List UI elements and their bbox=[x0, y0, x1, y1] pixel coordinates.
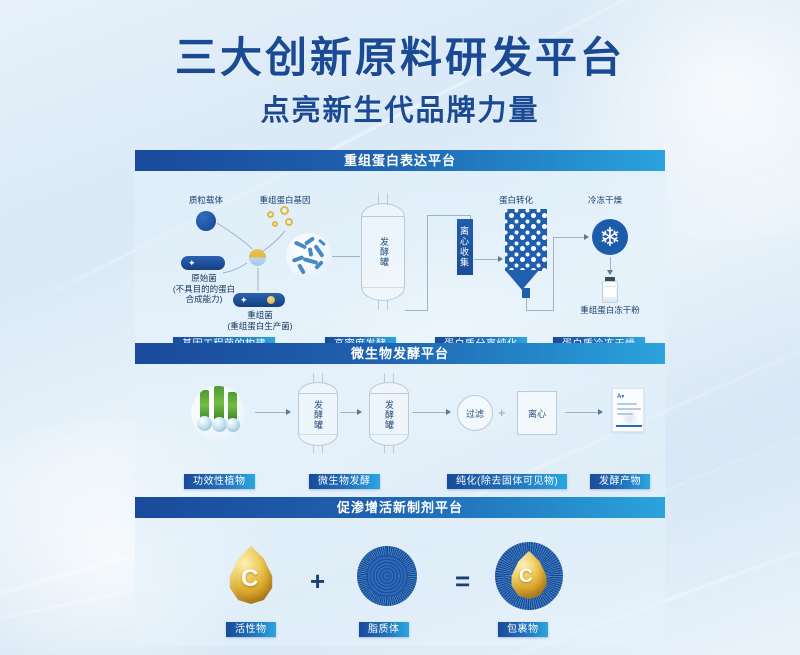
title-main: 三大创新原料研发平台 bbox=[0, 34, 800, 81]
flow-line bbox=[553, 237, 554, 311]
bacteria-cluster-icon bbox=[286, 233, 332, 279]
label-freeze-dried-powder: 重组蛋白冻干粉 bbox=[563, 305, 657, 316]
arrow-head-icon bbox=[446, 409, 451, 415]
flow-line bbox=[340, 412, 358, 413]
flow-line bbox=[332, 256, 360, 257]
tag-p2-3[interactable]: 发酵产物 bbox=[590, 474, 650, 489]
arrow-head-icon bbox=[584, 234, 589, 240]
page-title: 三大创新原料研发平台 点亮新生代品牌力量 bbox=[0, 34, 800, 129]
flow-line bbox=[474, 259, 499, 260]
recombinant-bacteria-icon: ✦ bbox=[233, 293, 285, 307]
panel-header-3: 促渗增活新制剂平台 bbox=[135, 497, 665, 518]
flow-line bbox=[565, 412, 599, 413]
snowflake-icon: ❄ bbox=[592, 219, 628, 255]
flow-line bbox=[255, 412, 287, 413]
tag-p2-2[interactable]: 纯化(除去固体可见物) bbox=[447, 474, 567, 489]
arrow-head-icon bbox=[357, 409, 362, 415]
tag-p2-1[interactable]: 微生物发酵 bbox=[309, 474, 380, 489]
panel-recombinant-protein: 重组蛋白表达平台 质粒载体 重组蛋白基因 ✦ 原始菌 (不具目的的蛋白 bbox=[135, 150, 665, 361]
product-pouch-icon: A▾ bbox=[612, 388, 644, 432]
flow-line bbox=[427, 215, 428, 311]
filter-node: 过滤 bbox=[457, 395, 493, 431]
arrow-head-icon bbox=[607, 270, 613, 275]
plus-operator: + bbox=[310, 566, 325, 597]
arrow-head-icon bbox=[286, 409, 291, 415]
liposome-core bbox=[366, 555, 408, 597]
equals-operator: = bbox=[455, 566, 470, 597]
encapsulated-letter: C bbox=[519, 566, 533, 588]
merge-node-icon bbox=[249, 249, 266, 266]
flow-line bbox=[412, 412, 447, 413]
tag-p3-0[interactable]: 活性物 bbox=[226, 622, 276, 637]
tag-p3-1[interactable]: 脂质体 bbox=[359, 622, 409, 637]
plus-sign-icon: + bbox=[498, 405, 506, 420]
panel-body-3: C + = C 活性物 脂质体 包裹物 bbox=[135, 518, 665, 646]
panel-body-1: 质粒载体 重组蛋白基因 ✦ 原始菌 (不具目的的蛋白 合成能力) bbox=[135, 171, 665, 361]
flow-line bbox=[553, 237, 585, 238]
label-freeze-dry: 冷冻干燥 bbox=[570, 195, 640, 206]
tag-p3-2[interactable]: 包裹物 bbox=[498, 622, 548, 637]
original-bacteria-icon: ✦ bbox=[181, 256, 225, 270]
tag-p2-0[interactable]: 功效性植物 bbox=[184, 474, 255, 489]
tag-centrifuge-collect: 离心收集 bbox=[457, 219, 473, 275]
arrow-head-icon bbox=[598, 409, 603, 415]
vial-icon bbox=[602, 277, 618, 303]
panel-header-2: 微生物发酵平台 bbox=[135, 343, 665, 364]
arrow-head-icon bbox=[498, 256, 503, 262]
panel-body-2: 发酵罐 发酵罐 过滤 + 离心 A▾ bbox=[135, 364, 665, 499]
label-protein-conversion: 蛋白转化 bbox=[476, 195, 556, 206]
flow-line bbox=[405, 310, 428, 311]
flow-line bbox=[427, 215, 471, 216]
flow-line bbox=[610, 257, 611, 271]
flow-line bbox=[526, 310, 554, 311]
title-subtitle: 点亮新生代品牌力量 bbox=[0, 87, 800, 129]
panel-header-1: 重组蛋白表达平台 bbox=[135, 150, 665, 171]
label-recombinant-bacteria: 重组菌 (重组蛋白生产菌) bbox=[213, 310, 307, 331]
panel-penetration-formulation: 促渗增活新制剂平台 C + = C 活性物 脂质体 包裹物 bbox=[135, 497, 665, 646]
droplet-letter: C bbox=[241, 565, 258, 593]
centrifuge-node: 离心 bbox=[517, 391, 557, 435]
plant-icon bbox=[191, 386, 245, 440]
panel-microbial-fermentation: 微生物发酵平台 发酵罐 bbox=[135, 343, 665, 499]
